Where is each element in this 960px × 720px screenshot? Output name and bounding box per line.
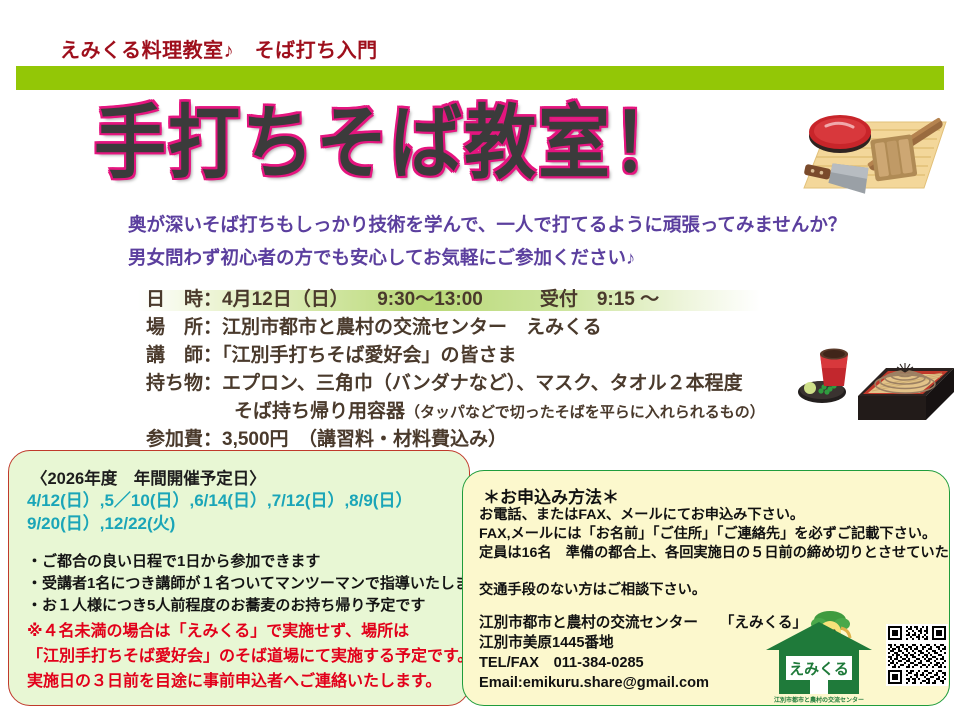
schedule-box-bullets: ・ご都合の良い日程で1日から参加できます ・受講者1名につき講師が１名ついてマン… [27,551,485,617]
event-details: 日 時：4月12日（日） 9:30～13:00 受付 9:15 ～ 場 所：江別… [146,286,846,454]
contact-center-name: 江別市都市と農村の交流センター 「えみくる」 [479,613,807,633]
lead-copy: 奥が深いそば打ちもしっかり技術を学んで、一人で打てるように頑張ってみませんか？ … [128,208,848,274]
flyer-kicker: えみくる料理教室♪ そば打ち入門 [60,34,378,63]
lead-line-2: 男女問わず初心者の方でも安心してお気軽にご参加ください♪ [128,241,848,274]
apply-body-line-3: 定員は16名 準備の都合上、各回実施日の５日前の締め切りとさせていただきます。 [479,544,950,563]
detail-bring-sub: そば持ち帰り用容器（タッパなどで切ったそばを平らに入れられるもの） [146,398,846,426]
schedule-warning-1: ※４名未満の場合は「えみくる」で実施せず、場所は [27,619,473,644]
soba-tools-illustration [786,92,956,204]
apply-body-line-2: FAX,メールには「お名前」「ご住所」「ご連絡先」を必ずご記載下さい。 [479,525,950,544]
detail-place: 場 所：江別市都市と農村の交流センター えみくる [146,314,846,342]
apply-box-contact: 江別市都市と農村の交流センター 「えみくる」 江別市美原1445番地 TEL/F… [479,613,807,693]
svg-text:えみくる: えみくる [789,661,849,678]
schedule-bullet-2: ・受講者1名につき講師が１名ついてマンツーマンで指導いたします [27,573,485,595]
contact-telfax: TEL/FAX 011-384-0285 [479,653,807,673]
emikuru-logo: えみくる 江別市都市と農村の交流センター [760,608,878,706]
page-title: 手打ちそば教室！ [0,92,780,178]
apply-body-line-1: お電話、またはFAX、メールにてお申込み下さい。 [479,506,950,525]
schedule-box-dates: 4/12(日）,5／10(日）,6/14(日）,7/12(日）,8/9(日） 9… [27,489,412,535]
schedule-warning-2: 「江別手打ちそば愛好会」のそば道場にて実施する予定です。 [27,644,473,669]
detail-bring-sub-paren: （タッパなどで切ったそばを平らに入れられるもの） [405,404,765,421]
schedule-box-heading: 〈2026年度 年間開催予定日〉 [31,465,266,489]
flyer-page: えみくる料理教室♪ そば打ち入門 手打ちそば教室！ [0,0,960,720]
contact-address: 江別市美原1445番地 [479,633,807,653]
apply-box-body: お電話、またはFAX、メールにてお申込み下さい。 FAX,メールには「お名前」「… [479,506,950,563]
schedule-box: 〈2026年度 年間開催予定日〉 4/12(日）,5／10(日）,6/14(日）… [8,450,470,706]
detail-datetime: 日 時：4月12日（日） 9:30～13:00 受付 9:15 ～ [146,286,846,314]
qr-code [886,624,948,686]
schedule-warning-3: 実施日の３日前を目途に事前申込者へご連絡いたします。 [27,669,473,694]
apply-box-heading: ＊お申込み方法＊ [483,483,619,508]
schedule-box-warning: ※４名未満の場合は「えみくる」で実施せず、場所は 「江別手打ちそば愛好会」のそば… [27,619,473,694]
zaru-soba-illustration [796,318,956,430]
schedule-bullet-3: ・お１人様につき5人前程度のお蕎麦のお持ち帰り予定です [27,595,485,617]
apply-box-note: 交通手段のない方はご相談下さい。 [479,579,706,599]
detail-teacher: 講 師：「江別手打ちそば愛好会」の皆さま [146,342,846,370]
schedule-bullet-1: ・ご都合の良い日程で1日から参加できます [27,551,485,573]
emikuru-logo-caption: 江別市都市と農村の交流センター [760,695,878,704]
schedule-dates-line-1: 4/12(日）,5／10(日）,6/14(日）,7/12(日）,8/9(日） [27,489,412,512]
detail-bring: 持ち物：エプロン、三角巾（バンダナなど）、マスク、タオル２本程度 [146,370,846,398]
lead-line-1: 奥が深いそば打ちもしっかり技術を学んで、一人で打てるように頑張ってみませんか？ [128,208,848,241]
schedule-dates-line-2: 9/20(日）,12/22(火) [27,512,412,535]
page-title-text: 手打ちそば教室！ [94,76,686,194]
detail-bring-sub-main: そば持ち帰り用容器 [234,401,405,422]
contact-email: Email:emikuru.share@gmail.com [479,673,807,693]
